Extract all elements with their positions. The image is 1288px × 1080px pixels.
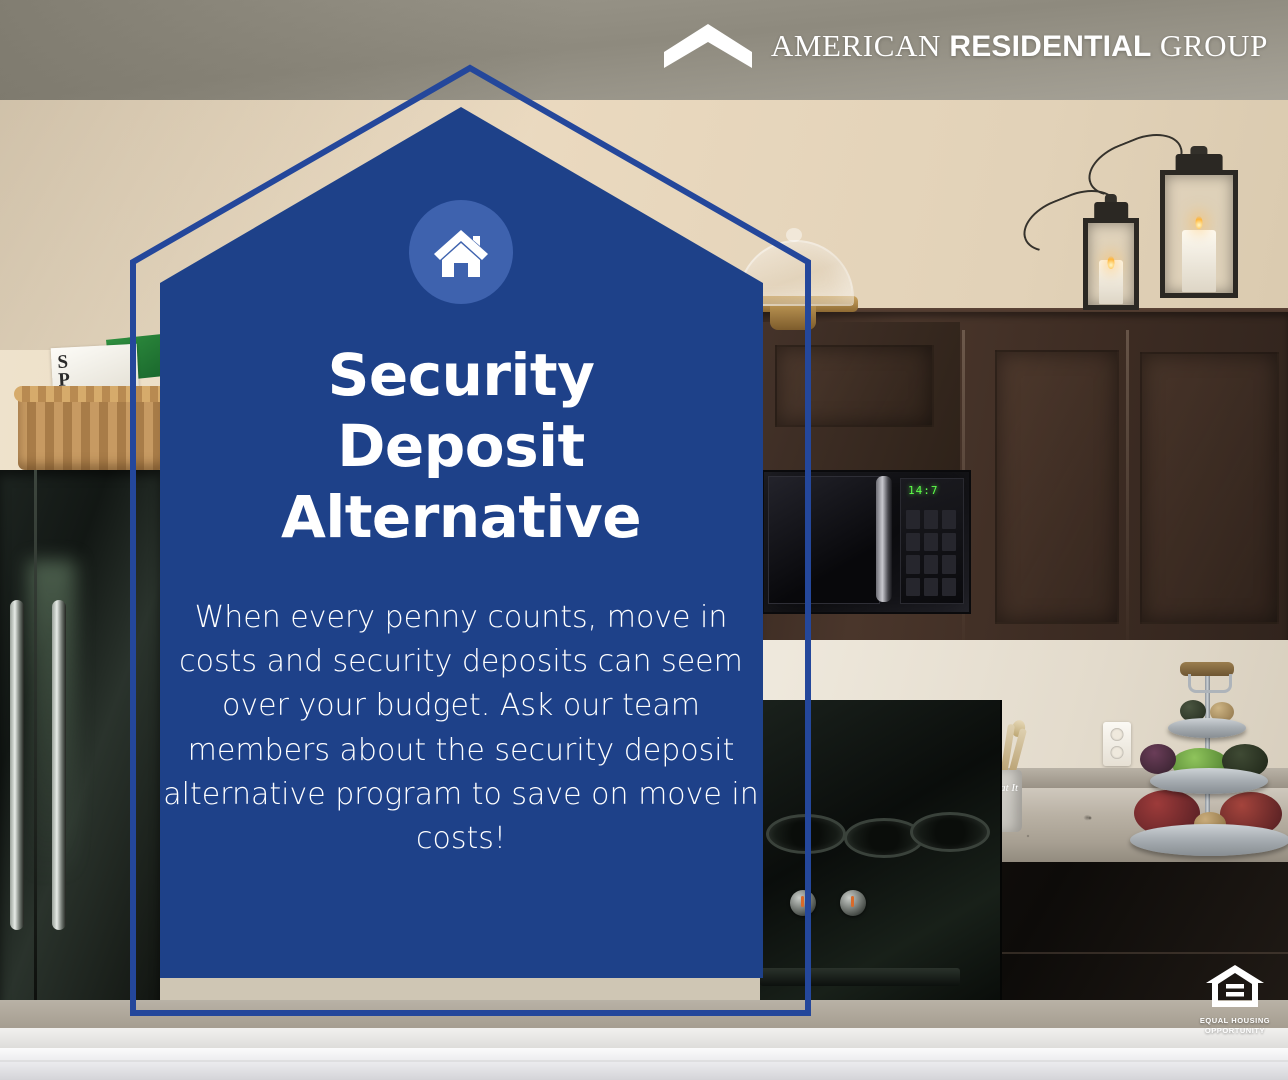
headline-line-3: Alternative <box>281 483 641 551</box>
home-icon-badge <box>409 200 513 304</box>
brand-word-american: AMERICAN <box>771 28 941 63</box>
brand-wordmark: AMERICAN RESIDENTIAL GROUP <box>771 28 1268 64</box>
equal-housing-opportunity-logo: EQUAL HOUSING OPPORTUNITY <box>1198 963 1272 1036</box>
chevron-roof-icon <box>663 22 753 70</box>
equal-housing-opportunity-icon <box>1204 963 1266 1009</box>
brand-word-residential: RESIDENTIAL <box>949 30 1151 63</box>
eho-label: EQUAL HOUSING OPPORTUNITY <box>1198 1016 1272 1036</box>
eho-line-1: EQUAL HOUSING <box>1198 1016 1272 1026</box>
promotional-poster: SKINNY POP 14:7 SP Just Beat <box>0 0 1288 1080</box>
body-copy: When every penny counts, move in costs a… <box>162 596 760 861</box>
home-icon <box>430 223 492 281</box>
headline-line-1: Security <box>328 341 595 409</box>
headline-line-2: Deposit <box>337 412 584 480</box>
page-title: Security Deposit Alternative <box>162 340 760 552</box>
brand-logo: AMERICAN RESIDENTIAL GROUP <box>663 22 1268 70</box>
brand-word-group: GROUP <box>1160 28 1268 63</box>
eho-line-2: OPPORTUNITY <box>1198 1026 1272 1036</box>
card-content: Security Deposit Alternative When every … <box>162 200 760 861</box>
